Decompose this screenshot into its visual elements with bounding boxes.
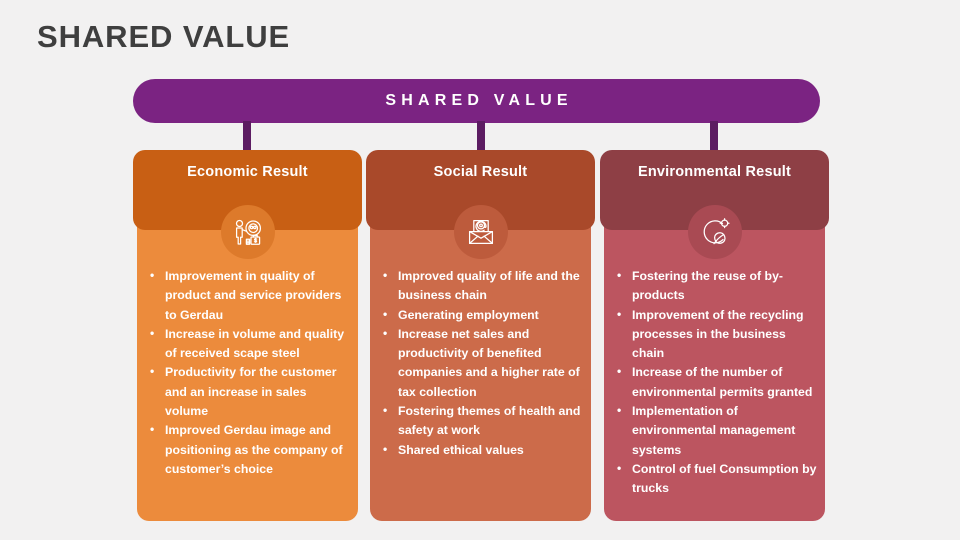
list-item: Shared ethical values (379, 441, 584, 460)
list-item: Improved quality of life and the busines… (379, 267, 584, 306)
envelope-at-icon (454, 205, 508, 259)
banner-label: SHARED VALUE (380, 92, 573, 110)
list-item: Implementation of environmental manageme… (613, 402, 818, 460)
list-item: Productivity for the customer and an inc… (146, 363, 351, 421)
column-environmental-result: Environmental Result Fostering the reuse… (600, 150, 829, 521)
connector-economic (243, 121, 251, 153)
list-item: Fostering themes of health and safety at… (379, 402, 584, 441)
bullet-list-economic: Improvement in quality of product and se… (146, 267, 351, 479)
list-item: Generating employment (379, 306, 584, 325)
shared-value-banner: SHARED VALUE (133, 79, 820, 123)
list-item: Improvement of the recycling processes i… (613, 306, 818, 364)
column-economic-result: Economic Result (133, 150, 362, 521)
connector-social (477, 121, 485, 153)
list-item: Increase net sales and productivity of b… (379, 325, 584, 402)
column-title-social: Social Result (366, 164, 595, 180)
connector-environmental (710, 121, 718, 153)
bullet-list-social: Improved quality of life and the busines… (379, 267, 584, 460)
bullet-list-environmental: Fostering the reuse of by-products Impro… (613, 267, 818, 499)
list-item: Increase of the number of environmental … (613, 363, 818, 402)
column-title-environmental: Environmental Result (600, 164, 829, 180)
page-title: SHARED VALUE (37, 19, 290, 55)
list-item: Increase in volume and quality of receiv… (146, 325, 351, 364)
list-item: Control of fuel Consumption by trucks (613, 460, 818, 499)
column-social-result: Social Result Improved quality of life a… (366, 150, 595, 521)
slide-canvas: SHARED VALUE SHARED VALUE Economic Resul… (0, 0, 960, 540)
list-item: Improved Gerdau image and positioning as… (146, 421, 351, 479)
list-item: Fostering the reuse of by-products (613, 267, 818, 306)
list-item: Improvement in quality of product and se… (146, 267, 351, 325)
globe-leaf-icon (688, 205, 742, 259)
column-title-economic: Economic Result (133, 164, 362, 180)
person-target-money-icon (221, 205, 275, 259)
